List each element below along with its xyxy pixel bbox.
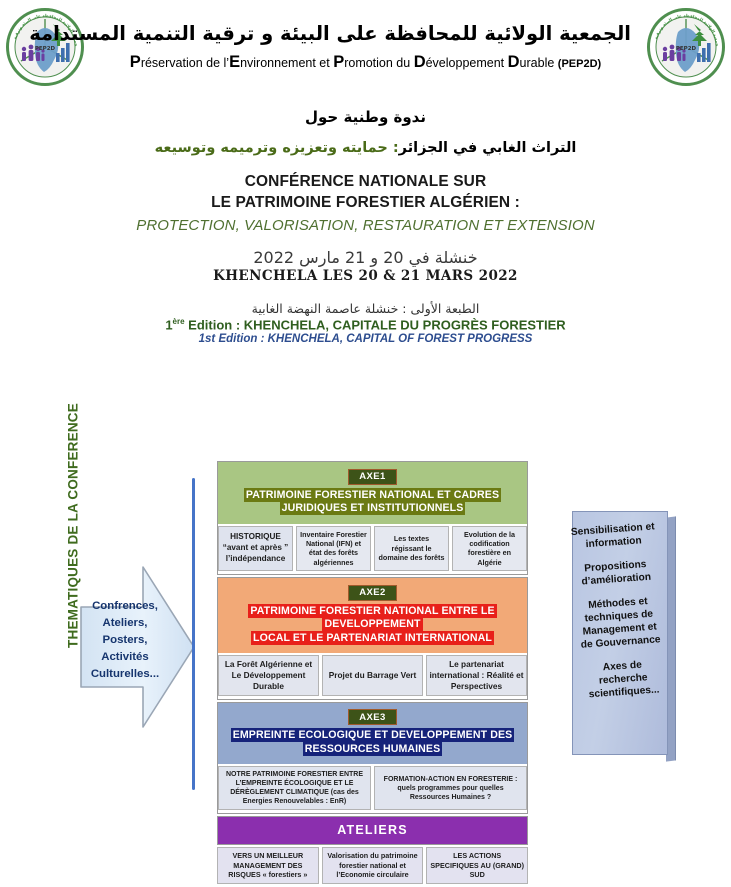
arrow-line-4: Culturelles... [79,666,171,683]
outcome-item-0: Sensibilisation et information [568,520,658,552]
edition-number: 1 [165,317,172,332]
outcomes-panel: Sensibilisation et information Propositi… [572,511,676,763]
axe2-title: PATRIMOINE FORESTIER NATIONAL ENTRE LE D… [222,604,523,647]
org-text-2: nvironnement et [240,56,333,70]
activities-arrow: Confrences, Ateliers, Posters, Activités… [79,563,196,731]
edition-arabic: الطبعة الأولى : خنشلة عاصمة النهضة الغاب… [0,301,731,316]
header-text-block: الجمعية الولائية للمحافظة على البيئة و ت… [100,22,631,72]
axe1-subtopic-0: HISTORIQUE “avant et après ” l’indépenda… [218,526,293,571]
svg-text:PEP2D: PEP2D [676,46,697,52]
axe2-subtopic-1: Projet du Barrage Vert [322,655,423,695]
axe1-block: AXE1 PATRIMOINE FORESTIER NATIONAL ET CA… [217,461,528,575]
axe1-subtopic-2: Les textes régissant le domaine des forê… [374,526,449,571]
event-title-arabic-main: التراث الغابي في الجزائر [399,140,577,156]
org-initial-p2: P [333,53,344,71]
vertical-divider-line [192,478,195,790]
event-date-french: KHENCHELA LES 20 & 21 MARS 2022 [0,268,731,284]
arrow-line-3: Activités [79,649,171,666]
organization-name-french: Préservation de l’Environnement et Promo… [100,53,631,72]
event-date-arabic: خنشلة في 20 و 21 مارس 2022 [0,248,731,267]
conference-subtitle: PROTECTION, VALORISATION, RESTAURATION E… [0,217,731,234]
event-title-arabic: التراث الغابي في الجزائر: حمايته وتعزيزه… [0,140,731,156]
org-initial-e: E [229,53,240,71]
ateliers-title: ATELIERS [337,823,407,837]
conference-title-line2: LE PATRIMOINE FORESTIER ALGÉRIEN : [0,193,731,214]
org-initial-d2: D [508,53,520,71]
outcome-item-2: Méthodes et techniques de Management et … [574,594,665,652]
org-text-3: romotion du [344,56,413,70]
organization-name-arabic: الجمعية الولائية للمحافظة على البيئة و ت… [100,22,631,46]
axe3-band: AXE3 EMPREINTE ECOLOGIQUE ET DEVELOPPEME… [218,703,527,765]
axe1-title: PATRIMOINE FORESTIER NATIONAL ET CADRES … [222,488,523,517]
axe2-tag: AXE2 [348,585,396,601]
axe2-subtopics: La Forêt Algérienne et Le Développement … [218,655,527,695]
edition-english: 1st Edition : KHENCHELA, CAPITAL OF FORE… [0,333,731,345]
axe2-block: AXE2 PATRIMOINE FORESTIER NATIONAL ENTRE… [217,577,528,699]
axe3-block: AXE3 EMPREINTE ECOLOGIQUE ET DEVELOPPEME… [217,702,528,815]
axe1-tag: AXE1 [348,469,396,485]
poster-page: PEP2D الجمعية الولائية للمحافظة على البي… [0,0,731,821]
axe3-title-line2: RESSOURCES HUMAINES [303,742,443,756]
axe3-subtopic-1: FORMATION-ACTION EN FORESTERIE : quels p… [374,766,527,810]
pep2d-logo-right: PEP2D الجمعية الولائية للمحافظة على البي… [647,8,725,86]
org-text-5: urable [520,56,558,70]
edition-french-text: Edition : KHENCHELA, CAPITALE DU PROGRÈS… [185,317,566,332]
axe3-title: EMPREINTE ECOLOGIQUE ET DEVELOPPEMENT DE… [222,728,523,757]
org-text-1: réservation de l’ [141,56,229,70]
axe1-subtopic-1: Inventaire Forestier National (IFN) et é… [296,526,371,571]
edition-french: 1ère Edition : KHENCHELA, CAPITALE DU PR… [0,317,731,332]
axe1-band: AXE1 PATRIMOINE FORESTIER NATIONAL ET CA… [218,462,527,524]
org-initial-d1: D [414,53,426,71]
ateliers-subtopic-2: LES ACTIONS SPECIFIQUES AU (GRAND) SUD [426,847,528,883]
arrow-line-1: Ateliers, [79,615,171,632]
org-abbreviation: (PEP2D) [558,58,601,70]
ateliers-band: ATELIERS [218,817,527,844]
axe1-subtopic-3: Evolution de la codification forestière … [452,526,527,571]
poster-header: PEP2D الجمعية الولائية للمحافظة على البي… [0,0,731,100]
outcomes-panel-text: Sensibilisation et information Propositi… [564,508,677,758]
title-block: ندوة وطنية حول التراث الغابي في الجزائر:… [0,108,731,345]
axe2-subtopic-2: Le partenariat international : Réalité e… [426,655,527,695]
axes-stack: AXE1 PATRIMOINE FORESTIER NATIONAL ET CA… [217,461,528,887]
conference-title-line1: CONFÉRENCE NATIONALE SUR [0,172,731,193]
axe1-title-line1: PATRIMOINE FORESTIER NATIONAL ET CADRES [244,488,501,502]
axe2-subtopic-0: La Forêt Algérienne et Le Développement … [218,655,319,695]
axe3-tag: AXE3 [348,709,396,725]
axe3-title-line1: EMPREINTE ECOLOGIQUE ET DEVELOPPEMENT DE… [231,728,515,742]
ateliers-subtopic-0: VERS UN MEILLEUR MANAGEMENT DES RISQUES … [217,847,319,883]
edition-ordinal-suffix: ère [173,317,185,326]
axe3-subtopic-0: NOTRE PATRIMOINE FORESTIER ENTRE L’EMPRE… [218,766,371,810]
outcome-item-3: Axes de recherche scientifiques... [578,657,669,702]
event-type-arabic: ندوة وطنية حول [0,108,731,126]
org-text-4: éveloppement [426,56,508,70]
org-initial-p1: P [130,53,141,71]
axe1-subtopics: HISTORIQUE “avant et après ” l’indépenda… [218,526,527,571]
ateliers-subtopics: VERS UN MEILLEUR MANAGEMENT DES RISQUES … [217,847,528,883]
svg-text:PEP2D: PEP2D [35,46,56,52]
activities-arrow-text: Confrences, Ateliers, Posters, Activités… [79,598,171,682]
event-title-arabic-sub: : حمايته وتعزيزه وترميمه وتوسيعه [155,140,399,156]
outcome-item-1: Propositions d’amélioration [571,557,661,589]
arrow-line-2: Posters, [79,632,171,649]
pep2d-logo-left: PEP2D الجمعية الولائية للمحافظة على البي… [6,8,84,86]
ateliers-subtopic-1: Valorisation du patrimoine forestier nat… [322,847,424,883]
axe3-subtopics: NOTRE PATRIMOINE FORESTIER ENTRE L’EMPRE… [218,766,527,810]
axe2-band: AXE2 PATRIMOINE FORESTIER NATIONAL ENTRE… [218,578,527,653]
axe2-title-line2: LOCAL ET LE PARTENARIAT INTERNATIONAL [251,631,494,645]
axe2-title-line1: PATRIMOINE FORESTIER NATIONAL ENTRE LE D… [248,604,496,632]
axe1-title-line2: JURIDIQUES ET INSTITUTIONNELS [280,501,466,515]
arrow-line-0: Confrences, [79,598,171,615]
